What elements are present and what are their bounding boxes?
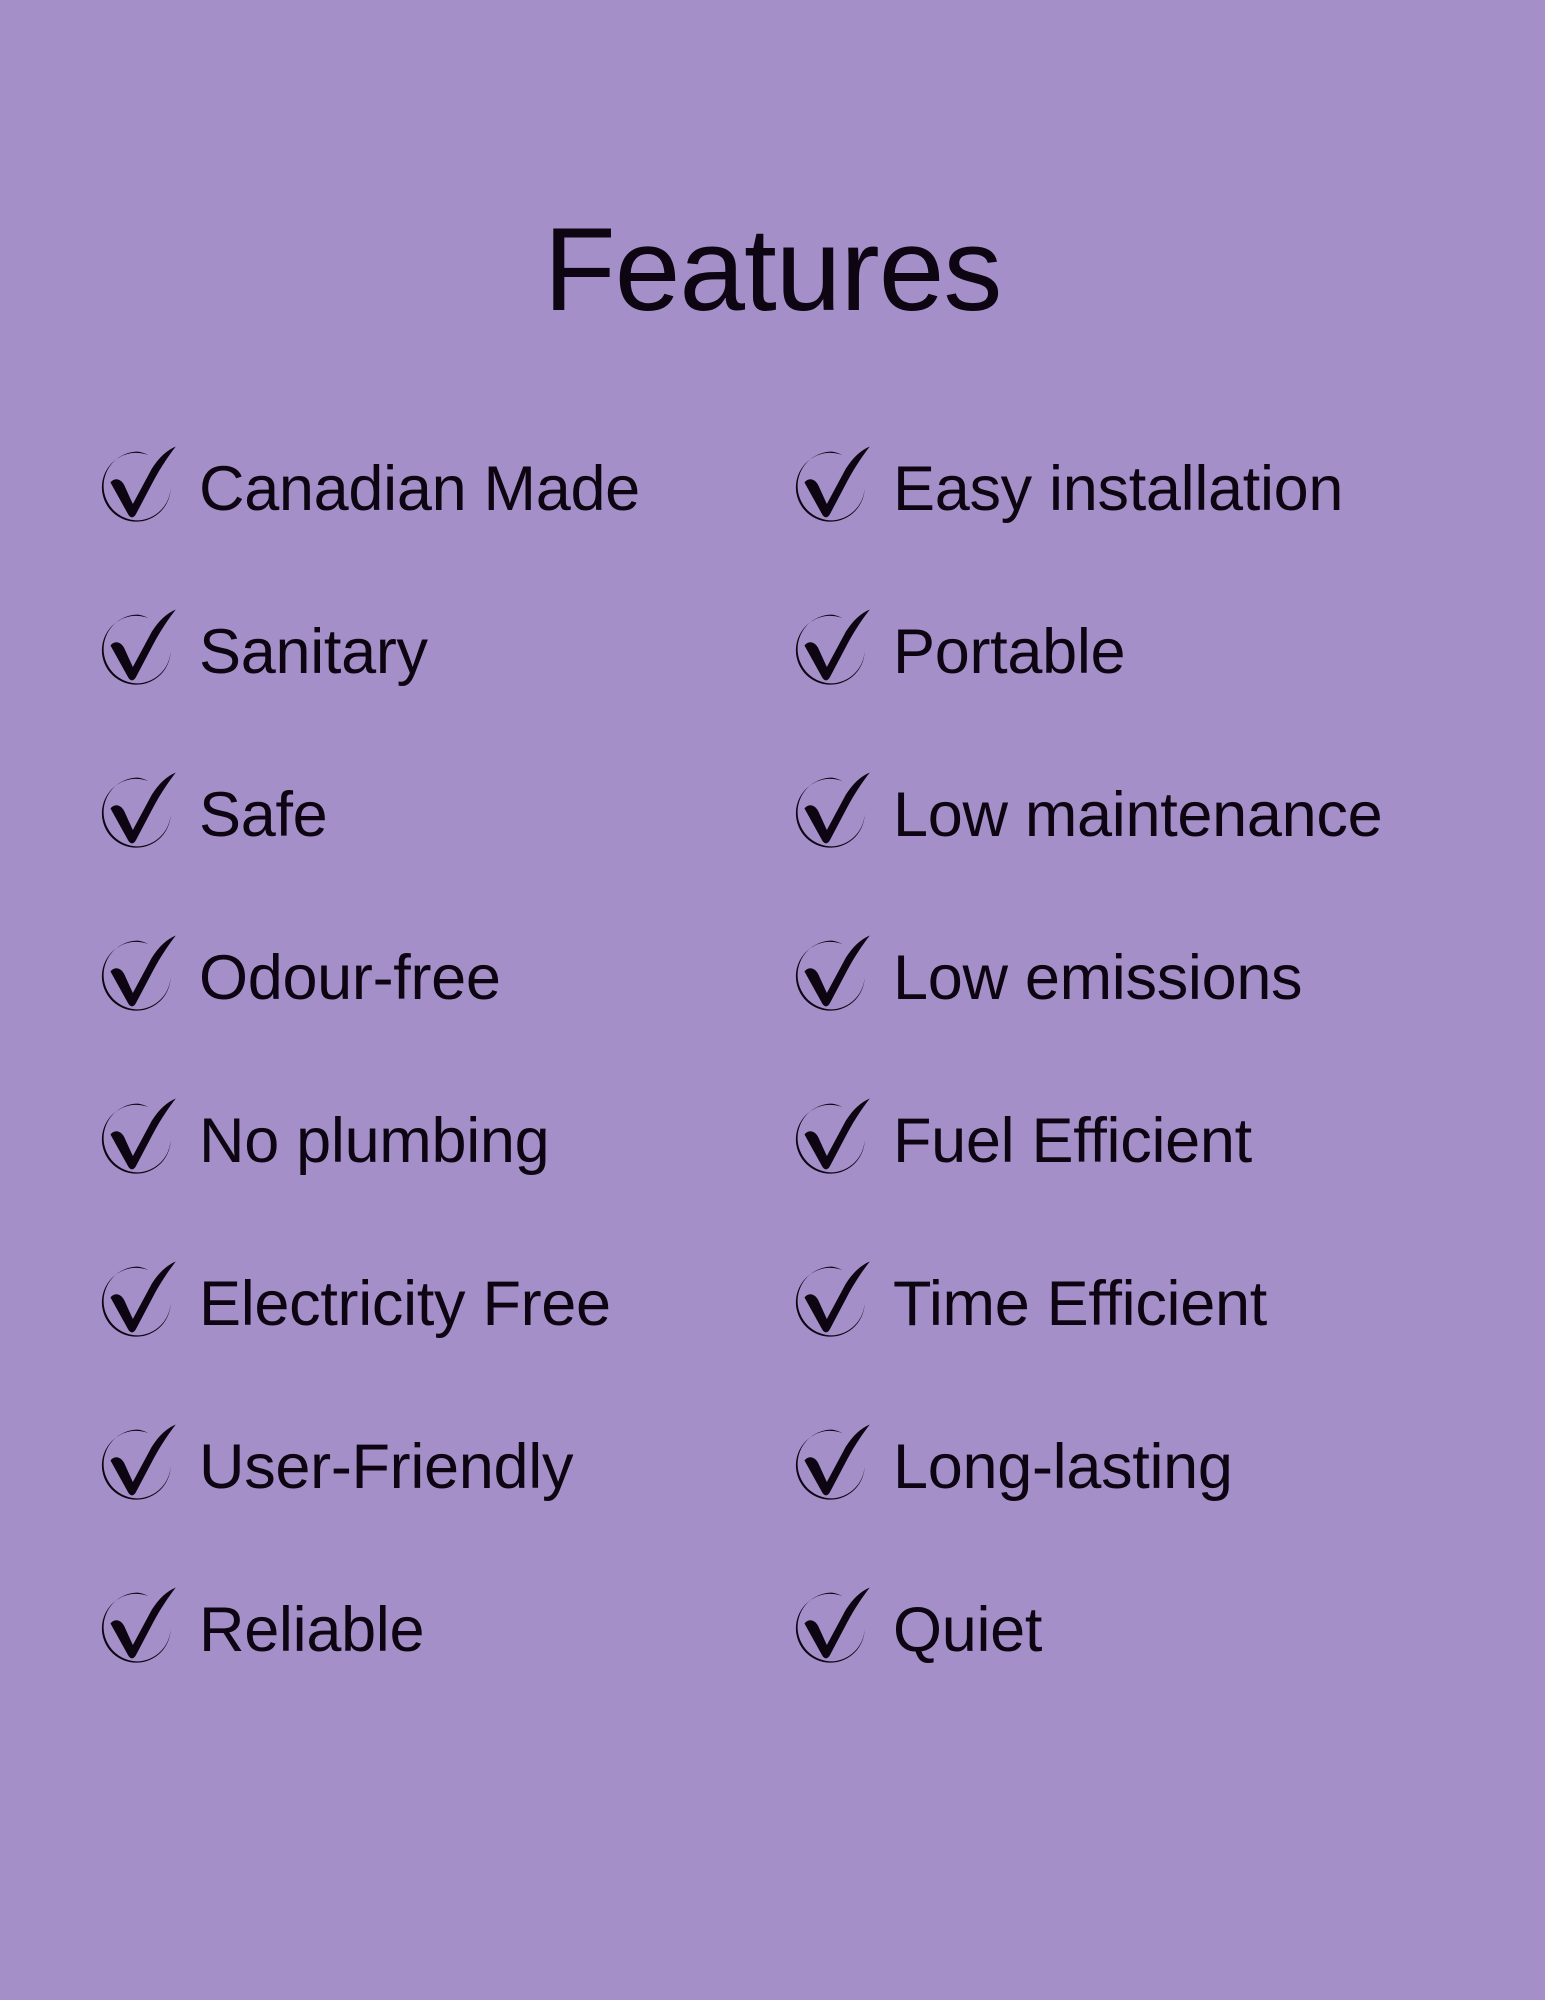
feature-label: Fuel Efficient [893, 1110, 1252, 1173]
feature-item-sanitary: Sanitary [95, 571, 765, 734]
feature-label: Canadian Made [199, 458, 640, 521]
feature-item-portable: Portable [765, 571, 1545, 734]
check-circle-icon [789, 769, 875, 855]
feature-item-quiet: Quiet [765, 1549, 1545, 1712]
check-circle-icon [95, 1584, 181, 1670]
features-poster: Features Canadian Made Easy installation [0, 0, 1545, 2000]
feature-item-user-friendly: User-Friendly [95, 1386, 765, 1549]
check-circle-icon [95, 443, 181, 529]
feature-item-time-efficient: Time Efficient [765, 1223, 1545, 1386]
feature-label: No plumbing [199, 1110, 549, 1173]
feature-label: Long-lasting [893, 1436, 1233, 1499]
feature-item-no-plumbing: No plumbing [95, 1060, 765, 1223]
feature-item-safe: Safe [95, 734, 765, 897]
feature-item-fuel-efficient: Fuel Efficient [765, 1060, 1545, 1223]
feature-label: Quiet [893, 1599, 1042, 1662]
check-circle-icon [789, 1584, 875, 1670]
page-title: Features [0, 211, 1545, 329]
feature-item-long-lasting: Long-lasting [765, 1386, 1545, 1549]
check-circle-icon [789, 1095, 875, 1181]
check-circle-icon [95, 932, 181, 1018]
feature-label: Electricity Free [199, 1273, 611, 1336]
features-list: Canadian Made Easy installation Sanitary [0, 408, 1545, 1712]
feature-label: Sanitary [199, 621, 428, 684]
feature-item-low-maintenance: Low maintenance [765, 734, 1545, 897]
check-circle-icon [789, 606, 875, 692]
feature-item-odour-free: Odour-free [95, 897, 765, 1060]
feature-label: Safe [199, 784, 327, 847]
feature-label: Low maintenance [893, 784, 1382, 847]
check-circle-icon [95, 606, 181, 692]
feature-label: Easy installation [893, 458, 1343, 521]
check-circle-icon [789, 932, 875, 1018]
feature-label: Portable [893, 621, 1125, 684]
feature-item-electricity-free: Electricity Free [95, 1223, 765, 1386]
feature-item-low-emissions: Low emissions [765, 897, 1545, 1060]
feature-item-easy-installation: Easy installation [765, 408, 1545, 571]
check-circle-icon [789, 443, 875, 529]
feature-label: Low emissions [893, 947, 1302, 1010]
check-circle-icon [95, 769, 181, 855]
feature-label: Odour-free [199, 947, 501, 1010]
check-circle-icon [95, 1095, 181, 1181]
check-circle-icon [789, 1258, 875, 1344]
feature-label: Time Efficient [893, 1273, 1267, 1336]
feature-label: User-Friendly [199, 1436, 573, 1499]
feature-item-reliable: Reliable [95, 1549, 765, 1712]
check-circle-icon [95, 1421, 181, 1507]
feature-label: Reliable [199, 1599, 424, 1662]
check-circle-icon [95, 1258, 181, 1344]
check-circle-icon [789, 1421, 875, 1507]
feature-item-canadian-made: Canadian Made [95, 408, 765, 571]
